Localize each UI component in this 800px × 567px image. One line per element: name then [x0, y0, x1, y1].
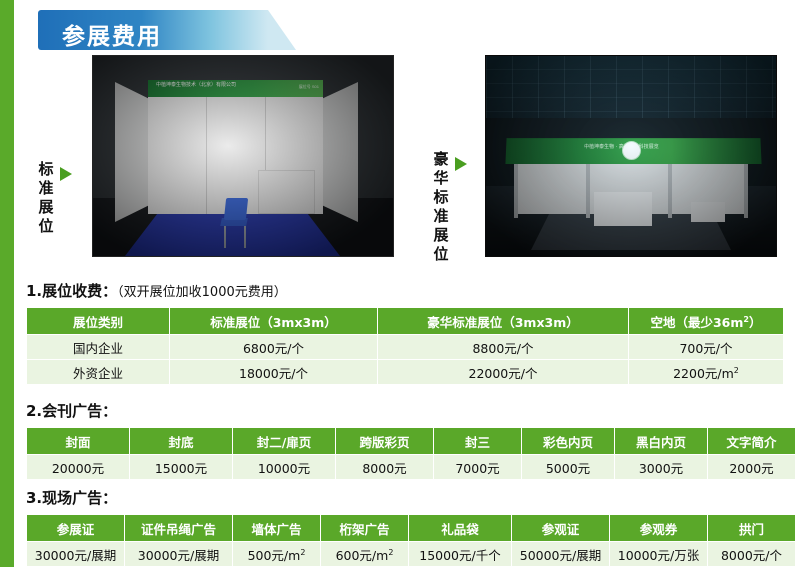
table-header-row: 展位类别 标准展位（3mx3m） 豪华标准展位（3mx3m） 空地（最少36m2…: [27, 308, 784, 335]
booth1-lighting-overlay: [93, 56, 393, 256]
cell: 50000元/展期: [512, 542, 610, 567]
section-1-note: （双开展位加收1000元费用）: [117, 285, 287, 300]
column-header: 封面: [27, 428, 130, 455]
column-header: 参展证: [27, 515, 125, 542]
cell: 2200元/m2: [629, 360, 784, 385]
column-header: 封二/扉页: [233, 428, 336, 455]
cell: 8000元: [336, 455, 434, 480]
table-row: 外资企业 18000元/个 22000元/个 2200元/m2: [27, 360, 784, 385]
column-header: 桁架广告: [321, 515, 409, 542]
cell: 10000元: [233, 455, 336, 480]
column-header: 展位类别: [27, 308, 170, 335]
cell: 5000元: [522, 455, 615, 480]
section-booth-fee: 1.展位收费：（双开展位加收1000元费用） 展位类别 标准展位（3mx3m） …: [26, 280, 784, 385]
column-header: 封三: [434, 428, 522, 455]
section-onsite-ad: 3.现场广告： 参展证 证件吊绳广告 墙体广告 桁架广告 礼品袋 参观证 参观券…: [26, 487, 796, 567]
cell: 22000元/个: [378, 360, 629, 385]
column-header: 礼品袋: [409, 515, 512, 542]
cell: 15000元: [130, 455, 233, 480]
cell: 15000元/千个: [409, 542, 512, 567]
journal-ad-table: 封面 封底 封二/扉页 跨版彩页 封三 彩色内页 黑白内页 文字简介 20000…: [26, 427, 796, 480]
section-1-title: 1.展位收费：（双开展位加收1000元费用）: [26, 280, 784, 301]
section-1-number: 1.: [26, 282, 42, 300]
section-2-number: 2.: [26, 402, 42, 420]
cell: 600元/m2: [321, 542, 409, 567]
column-header: 拱门: [708, 515, 796, 542]
column-header: 封底: [130, 428, 233, 455]
cell: 外资企业: [27, 360, 170, 385]
column-header: 空地（最少36m2）: [629, 308, 784, 335]
cell: 700元/个: [629, 335, 784, 360]
section-journal-ad: 2.会刊广告： 封面 封底 封二/扉页 跨版彩页 封三 彩色内页 黑白内页 文字…: [26, 400, 796, 480]
column-header: 参观券: [610, 515, 708, 542]
column-header: 黑白内页: [615, 428, 708, 455]
booth-fee-table: 展位类别 标准展位（3mx3m） 豪华标准展位（3mx3m） 空地（最少36m2…: [26, 307, 784, 385]
deluxe-booth-label: 豪华标准展位: [428, 150, 454, 264]
cell: 10000元/万张: [610, 542, 708, 567]
arrow-right-icon: [60, 167, 72, 181]
booth2-lighting-overlay: [486, 56, 776, 256]
section-2-label: 会刊广告：: [42, 402, 117, 420]
photo-section: 标准展位 中植坤泰生物技术（北京）有限公司 展位号 S01 豪华标准展位: [30, 55, 775, 260]
cell: 7000元: [434, 455, 522, 480]
left-white-gap: [14, 0, 18, 567]
onsite-ad-table: 参展证 证件吊绳广告 墙体广告 桁架广告 礼品袋 参观证 参观券 拱门 3000…: [26, 514, 796, 567]
cell: 18000元/个: [170, 360, 378, 385]
left-green-edge-bar: [0, 0, 14, 567]
column-header: 标准展位（3mx3m）: [170, 308, 378, 335]
section-3-number: 3.: [26, 489, 42, 507]
column-header: 跨版彩页: [336, 428, 434, 455]
section-3-label: 现场广告：: [42, 489, 117, 507]
table-header-row: 参展证 证件吊绳广告 墙体广告 桁架广告 礼品袋 参观证 参观券 拱门: [27, 515, 796, 542]
cell: 500元/m2: [233, 542, 321, 567]
cell: 30000元/展期: [27, 542, 125, 567]
table-header-row: 封面 封底 封二/扉页 跨版彩页 封三 彩色内页 黑白内页 文字简介: [27, 428, 796, 455]
page-header: 参展费用: [38, 10, 308, 50]
arrow-right-icon: [455, 157, 467, 171]
column-header: 豪华标准展位（3mx3m）: [378, 308, 629, 335]
standard-booth-image: 中植坤泰生物技术（北京）有限公司 展位号 S01: [92, 55, 394, 257]
cell: 8800元/个: [378, 335, 629, 360]
cell: 国内企业: [27, 335, 170, 360]
cell: 20000元: [27, 455, 130, 480]
table-row: 30000元/展期 30000元/展期 500元/m2 600元/m2 1500…: [27, 542, 796, 567]
section-1-label: 展位收费：: [42, 282, 117, 300]
section-2-title: 2.会刊广告：: [26, 400, 796, 421]
column-header: 文字简介: [708, 428, 796, 455]
column-header: 参观证: [512, 515, 610, 542]
page-title: 参展费用: [62, 17, 162, 51]
cell: 6800元/个: [170, 335, 378, 360]
cell: 8000元/个: [708, 542, 796, 567]
column-header: 彩色内页: [522, 428, 615, 455]
cell: 2000元: [708, 455, 796, 480]
standard-booth-label: 标准展位: [33, 160, 59, 236]
column-header: 墙体广告: [233, 515, 321, 542]
cell: 3000元: [615, 455, 708, 480]
table-row: 国内企业 6800元/个 8800元/个 700元/个: [27, 335, 784, 360]
column-header: 证件吊绳广告: [125, 515, 233, 542]
table-row: 20000元 15000元 10000元 8000元 7000元 5000元 3…: [27, 455, 796, 480]
section-3-title: 3.现场广告：: [26, 487, 796, 508]
deluxe-booth-image: 中植坤泰生物 · 高端生物科技展览: [485, 55, 777, 257]
cell: 30000元/展期: [125, 542, 233, 567]
